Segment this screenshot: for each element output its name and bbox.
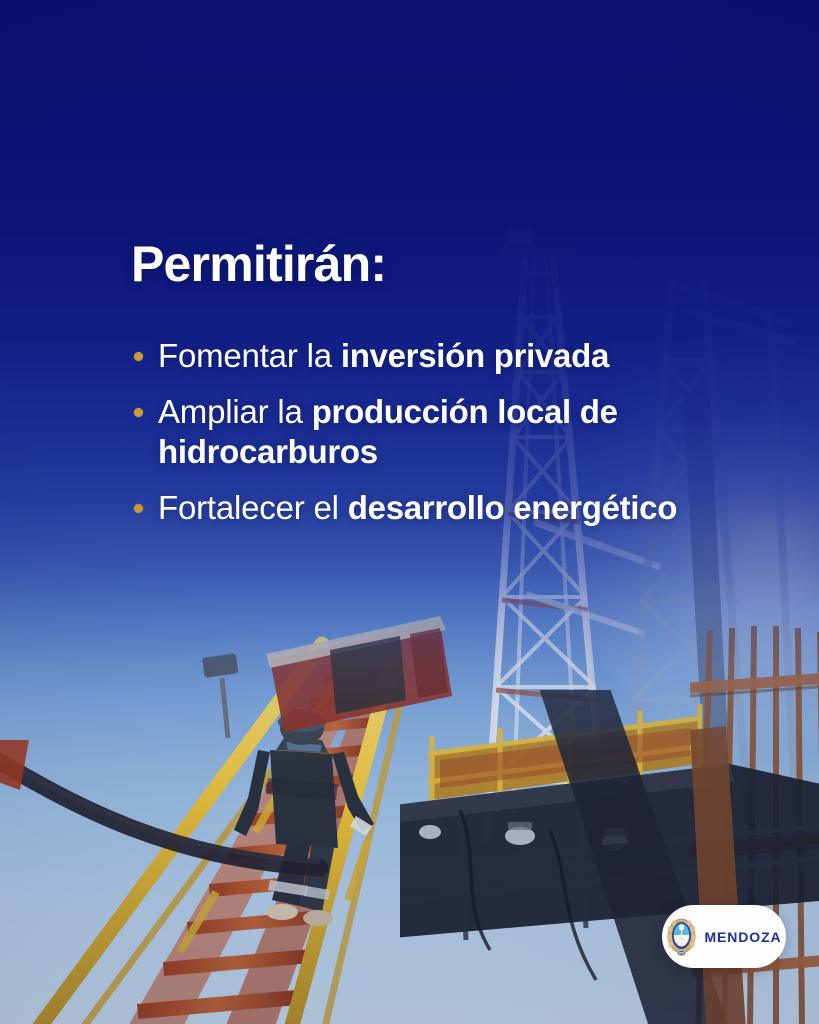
mendoza-logo-badge[interactable]: MENDOZA [662, 905, 786, 968]
list-item-strong: inversión privada [341, 337, 609, 374]
hose-cable [0, 740, 410, 940]
list-item: Fomentar la inversión privada [131, 336, 741, 375]
mendoza-wordmark: MENDOZA [704, 929, 781, 945]
list-item-lead: Fomentar la [158, 337, 341, 374]
list-item: Ampliar la producción local de hidrocarb… [131, 392, 741, 471]
bullet-dot-icon [134, 352, 143, 361]
mendoza-crest-icon [666, 916, 697, 958]
poster-canvas: Permitirán: Fomentar la inversión privad… [0, 0, 819, 1024]
list-item-lead: Fortalecer el [158, 489, 348, 526]
bullet-dot-icon [134, 504, 143, 513]
list-item-lead: Ampliar la [158, 393, 312, 430]
list-item-strong: desarrollo energético [348, 489, 677, 526]
bullet-dot-icon [134, 408, 143, 417]
list-item: Fortalecer el desarrollo energético [131, 488, 741, 527]
benefits-list: Fomentar la inversión privada Ampliar la… [131, 336, 741, 527]
page-title: Permitirán: [131, 239, 386, 290]
